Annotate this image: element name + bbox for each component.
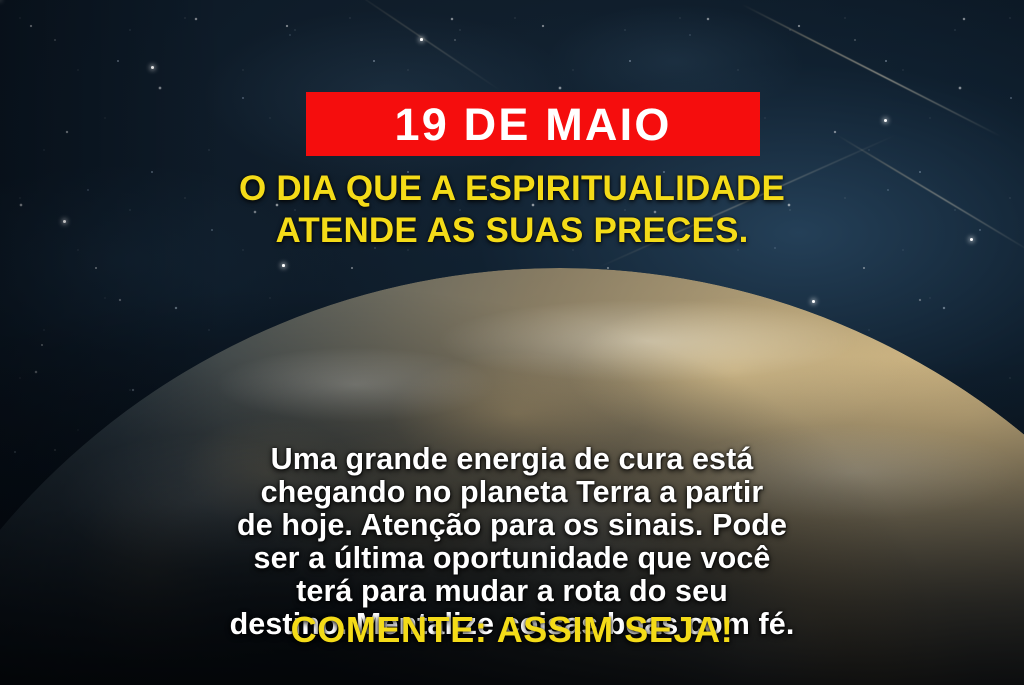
headline-line-2: ATENDE AS SUAS PRECES.	[52, 210, 972, 252]
body-line-5: terá para mudar a rota do seu	[46, 575, 978, 608]
poster-image: 19 DE MAIO O DIA QUE A ESPIRITUALIDADE A…	[0, 0, 1024, 685]
text-content-layer: 19 DE MAIO O DIA QUE A ESPIRITUALIDADE A…	[0, 0, 1024, 685]
call-to-action: COMENTE: ASSIM SEJA!	[0, 612, 1024, 648]
headline-line-1: O DIA QUE A ESPIRITUALIDADE	[52, 168, 972, 210]
date-banner-label: 19 DE MAIO	[394, 102, 671, 147]
body-line-4: ser a última oportunidade que você	[46, 542, 978, 575]
headline: O DIA QUE A ESPIRITUALIDADE ATENDE AS SU…	[0, 168, 1024, 251]
body-line-1: Uma grande energia de cura está	[46, 443, 978, 476]
date-banner: 19 DE MAIO	[306, 92, 760, 156]
body-line-2: chegando no planeta Terra a partir	[46, 476, 978, 509]
body-line-3: de hoje. Atenção para os sinais. Pode	[46, 509, 978, 542]
